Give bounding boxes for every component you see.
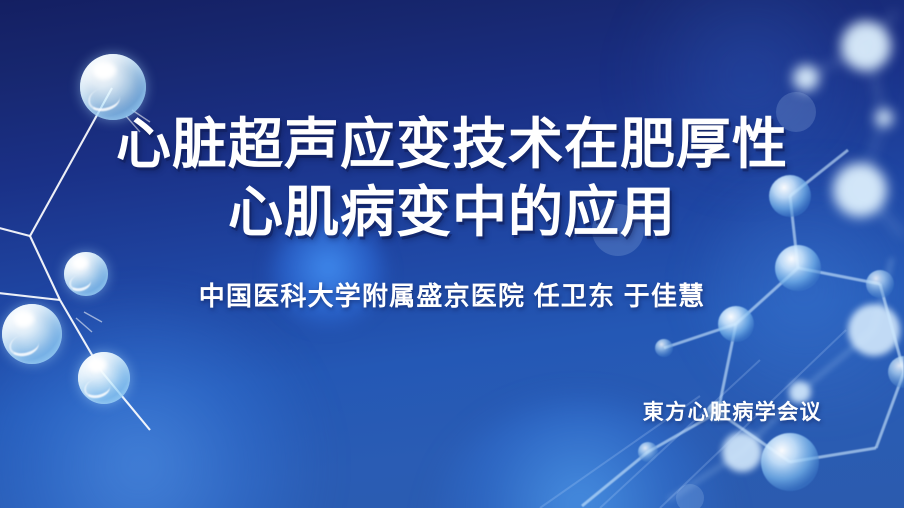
presentation-title-slide: 心脏超声应变技术在肥厚性 心肌病变中的应用 中国医科大学附属盛京医院 任卫东 于…: [0, 0, 904, 508]
bubble-sphere-mid-left: [2, 304, 62, 364]
slide-title: 心脏超声应变技术在肥厚性 心肌病变中的应用: [0, 110, 904, 246]
title-line-1: 心脏超声应变技术在肥厚性: [0, 110, 904, 178]
conference-name: 東方心脏病学会议: [643, 396, 822, 426]
bubble-sphere-lower-left: [78, 352, 130, 404]
title-line-2: 心肌病变中的应用: [0, 178, 904, 246]
slide-subtitle-authors: 中国医科大学附属盛京医院 任卫东 于佳慧: [0, 276, 904, 313]
